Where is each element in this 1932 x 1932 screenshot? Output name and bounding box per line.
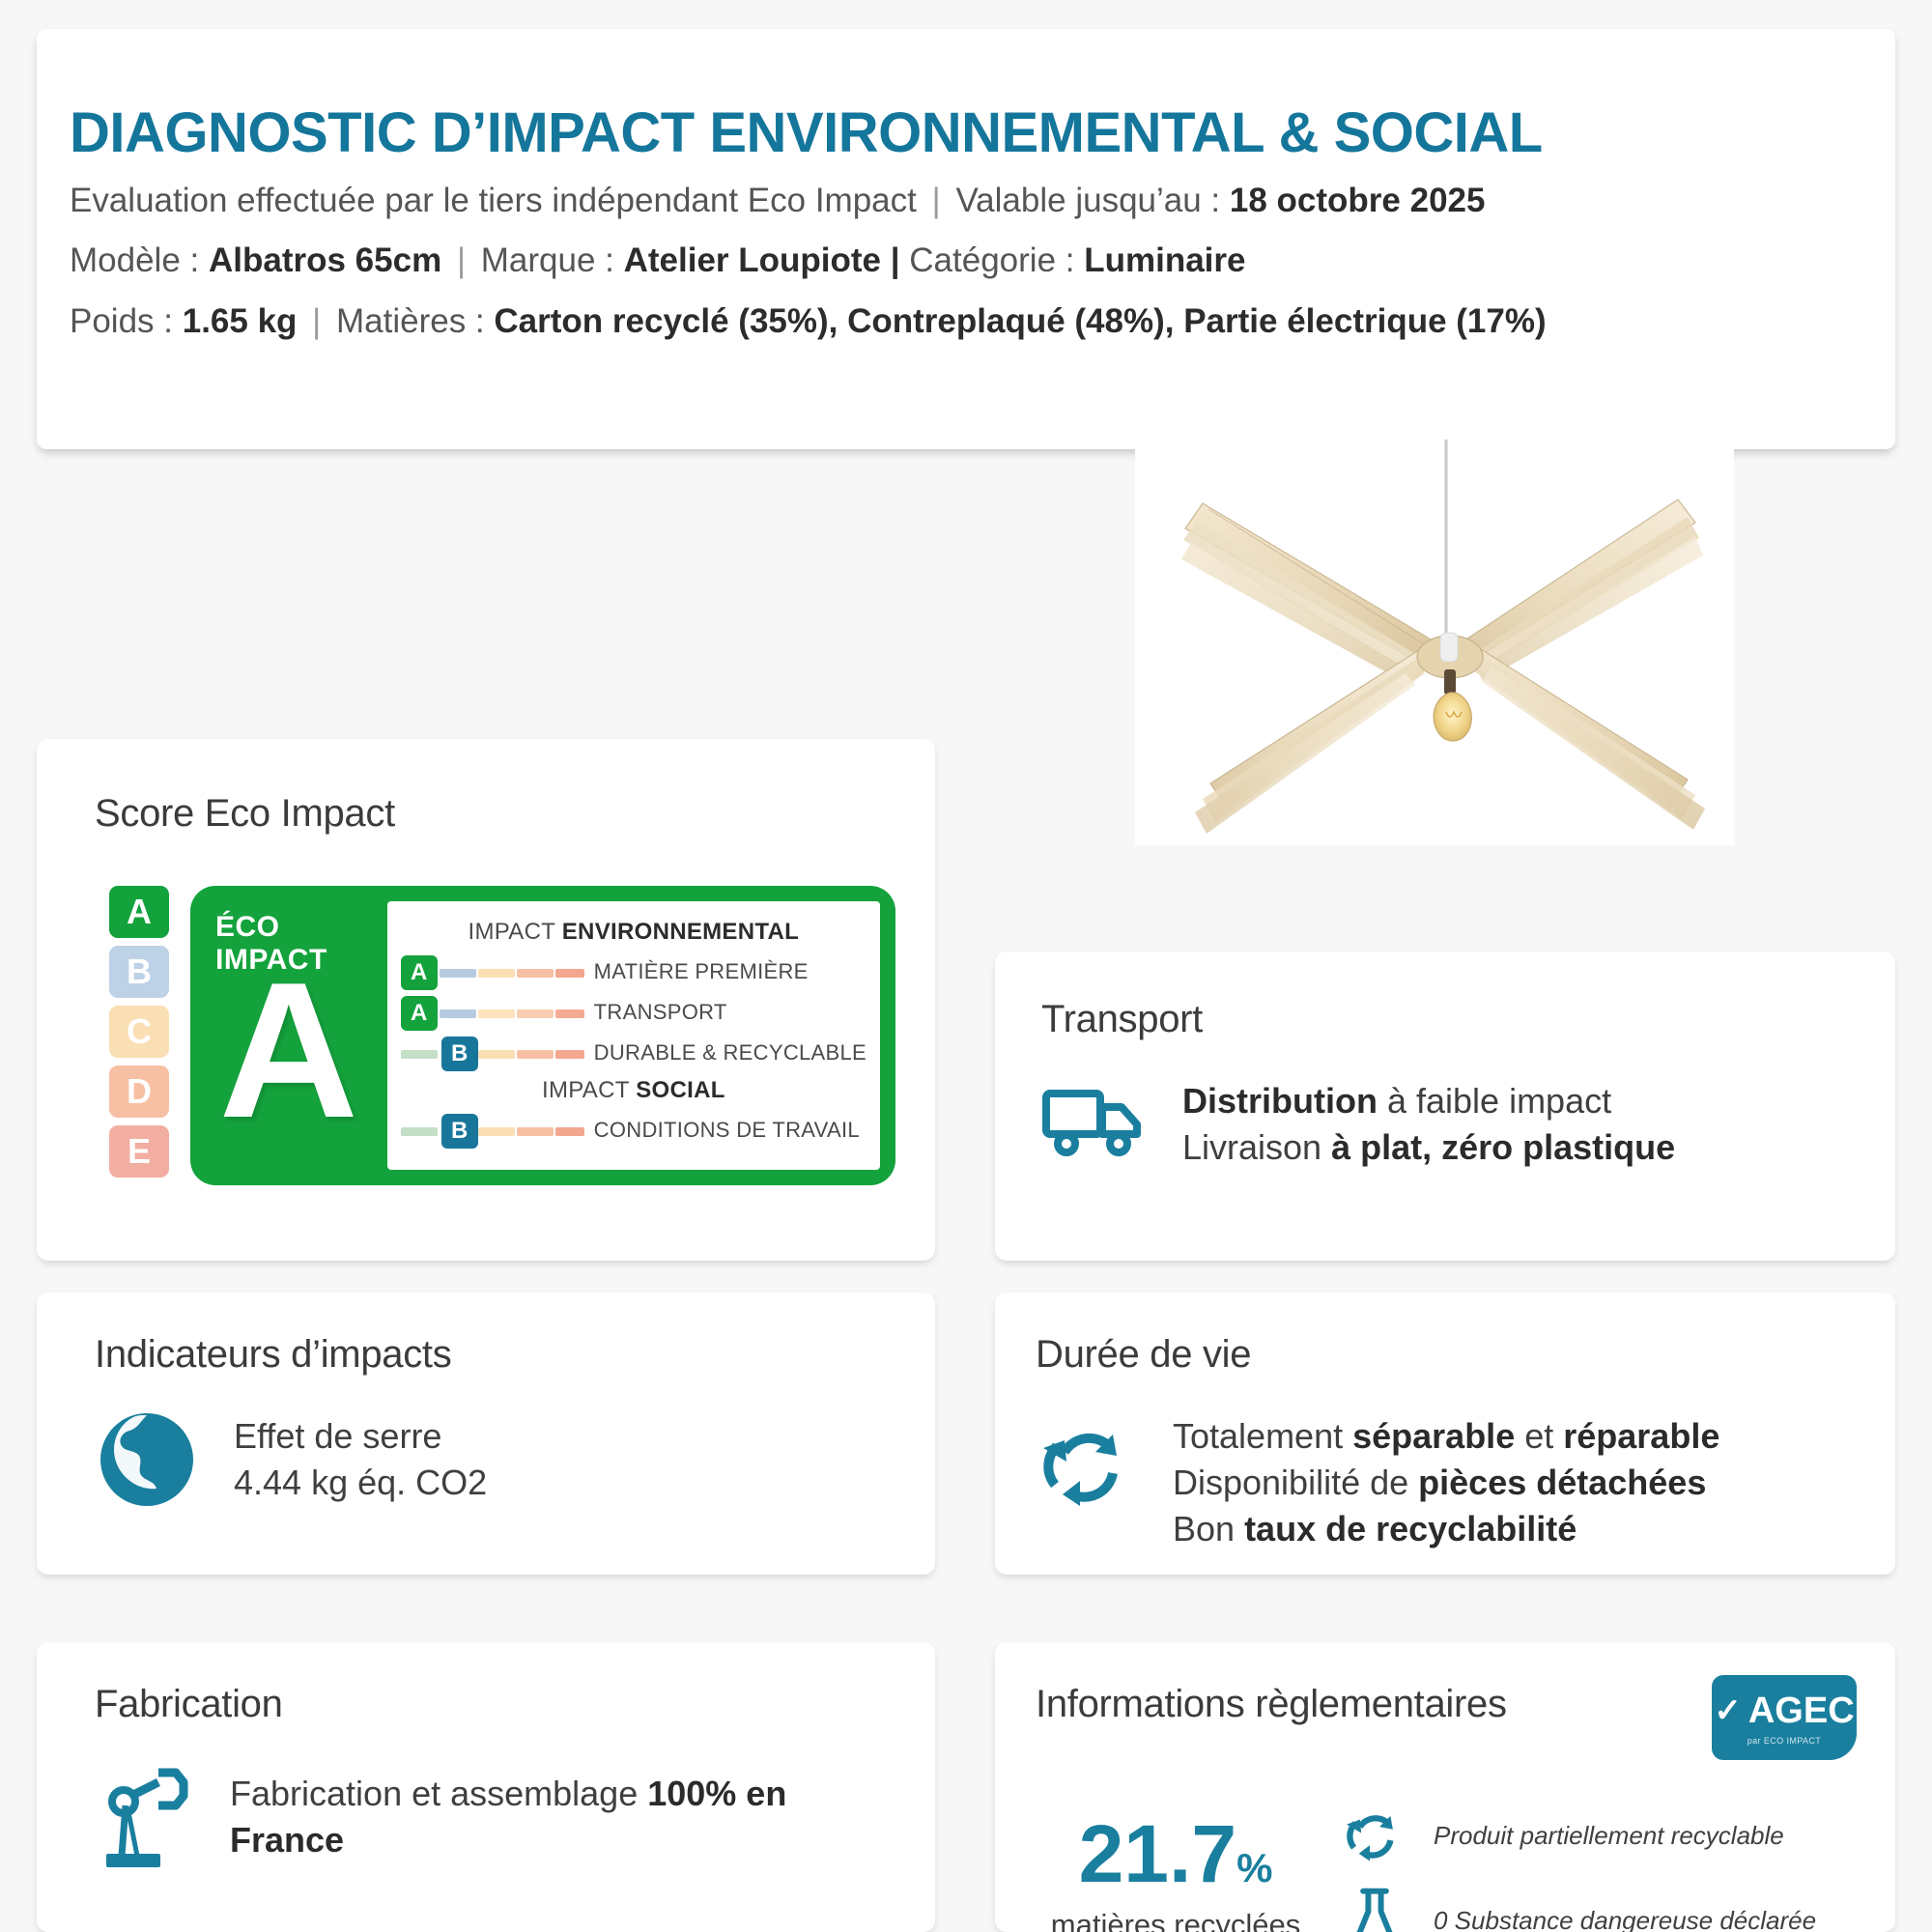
separator-3: |	[306, 302, 327, 340]
flask-icon	[1333, 1886, 1416, 1932]
social-heading: IMPACT SOCIAL	[401, 1077, 867, 1104]
lamp-socket	[1444, 669, 1456, 695]
transport-card-body: Distribution à faible impact Livraison à…	[1041, 1078, 1895, 1171]
eco-criteria-panel: IMPACT ENVIRONNEMENTAL A MATIÈRE PREMIÈR…	[387, 901, 880, 1170]
bar-segment	[517, 1009, 554, 1018]
criterion-durable-recyclable: B DURABLE & RECYCLABLE	[401, 1033, 867, 1073]
grade-scale: A B C D E	[109, 886, 169, 1185]
indicateurs-card-title: Indicateurs d’impacts	[95, 1333, 935, 1377]
agec-badge-name: AGEC	[1748, 1690, 1855, 1732]
reglementaire-item-substances: 0 Substance dangereuse déclarée	[1333, 1878, 1816, 1932]
model-line: Modèle : Albatros 65cm | Marque : Atelie…	[70, 239, 1862, 284]
environmental-heading-bold: ENVIRONNEMENTAL	[562, 919, 799, 945]
evaluation-text: Evaluation effectuée par le tiers indépe…	[70, 182, 917, 219]
reglementaires-header: Informations règlementaires ✓ AGEC par E…	[1036, 1683, 1895, 1768]
duree-card-body: Totalement séparable et réparable Dispon…	[1036, 1413, 1895, 1552]
bar-segment	[440, 969, 476, 978]
duree-line-1-bold2: réparable	[1563, 1416, 1719, 1456]
indicator-value: 4.44 kg éq. CO2	[234, 1460, 487, 1506]
model-value: Albatros 65cm	[209, 241, 441, 279]
recycled-percent-number: 21.7	[1079, 1808, 1237, 1899]
bar-segment	[440, 1009, 476, 1018]
recycled-materials-stat: 21.7% matières recyclées	[1036, 1813, 1316, 1932]
separator-2: |	[451, 241, 471, 279]
fabrication-card-title: Fabrication	[95, 1683, 935, 1726]
model-label: Modèle :	[70, 241, 199, 279]
brand-value: Atelier Loupiote |	[624, 241, 900, 279]
category-label: Catégorie :	[909, 241, 1074, 279]
reglementaires-items: Produit partiellement recyclable 0 Subst…	[1333, 1793, 1816, 1932]
environmental-heading: IMPACT ENVIRONNEMENTAL	[401, 919, 867, 946]
bar-segment	[478, 1009, 515, 1018]
criterion-track: A	[401, 991, 584, 1034]
product-image	[1135, 440, 1734, 845]
eco-label-panel: ÉCO IMPACT A IMPACT ENVIRONNEMENTAL	[190, 886, 895, 1185]
bar-segment	[478, 1050, 515, 1059]
duree-line-3-bold: taux de recyclabilité	[1244, 1509, 1577, 1548]
lamp-arm-upper-left	[1181, 503, 1442, 683]
reglementaire-item-text: Produit partiellement recyclable	[1434, 1821, 1784, 1851]
bar-segment	[517, 969, 554, 978]
duree-line-3: Bon taux de recyclabilité	[1173, 1506, 1719, 1552]
transport-card-lines: Distribution à faible impact Livraison à…	[1182, 1078, 1675, 1171]
bar-segment	[555, 1050, 584, 1059]
reglementaires-body: 21.7% matières recyclées	[1036, 1793, 1895, 1932]
recycled-percent-label: matières recyclées	[1036, 1908, 1316, 1932]
transport-line-1-bold: Distribution	[1182, 1081, 1378, 1121]
grade-chip-a: A	[109, 886, 169, 938]
weight-value: 1.65 kg	[183, 302, 298, 340]
bar-segment	[517, 1050, 554, 1059]
agec-badge-main: ✓ AGEC	[1714, 1690, 1854, 1732]
reglementaire-item-text: 0 Substance dangereuse déclarée	[1434, 1906, 1816, 1932]
criterion-grade-badge: B	[441, 1037, 478, 1071]
duree-line-2-lead: Disponibilité de	[1173, 1463, 1418, 1502]
informations-reglementaires-card: Informations règlementaires ✓ AGEC par E…	[995, 1642, 1895, 1932]
duree-line-3-lead: Bon	[1173, 1509, 1244, 1548]
indicateurs-impacts-card: Indicateurs d’impacts Effet de serre 4.4…	[37, 1293, 935, 1575]
duree-line-1-mid: et	[1515, 1416, 1563, 1456]
bar-segment	[555, 1009, 584, 1018]
pendant-lamp-illustration	[1135, 440, 1734, 845]
grade-chip-e: E	[109, 1125, 169, 1178]
evaluation-line: Evaluation effectuée par le tiers indépe…	[70, 179, 1862, 224]
materials-value: Carton recyclé (35%), Contreplaqué (48%)…	[494, 302, 1546, 340]
criterion-label: MATIÈRE PREMIÈRE	[594, 959, 809, 984]
reglementaire-item-recyclable: Produit partiellement recyclable	[1333, 1793, 1816, 1878]
truck-icon	[1041, 1078, 1150, 1163]
duree-line-1-lead: Totalement	[1173, 1416, 1352, 1456]
duree-line-1: Totalement séparable et réparable	[1173, 1413, 1719, 1460]
globe-icon	[93, 1406, 201, 1514]
bar-segment	[517, 1127, 554, 1136]
grade-chip-b: B	[109, 946, 169, 998]
recycled-percent-value: 21.7%	[1036, 1813, 1316, 1894]
fabrication-card: Fabrication Fabrication et assemblage 10…	[37, 1642, 935, 1932]
duree-card-title: Durée de vie	[1036, 1333, 1895, 1377]
eco-label-left: ÉCO IMPACT A	[190, 886, 387, 1185]
transport-line-2-bold: à plat, zéro plastique	[1331, 1127, 1675, 1167]
eco-impact-datasheet: DIAGNOSTIC D’IMPACT ENVIRONNEMENTAL & SO…	[0, 0, 1932, 1932]
recycle-icon	[1333, 1803, 1416, 1868]
validity-value: 18 octobre 2025	[1230, 182, 1486, 219]
lamp-bulb	[1434, 693, 1471, 741]
duree-line-1-bold: séparable	[1352, 1416, 1515, 1456]
duree-de-vie-card: Durée de vie Totalement séparable et rép…	[995, 1293, 1895, 1575]
indicateurs-card-lines: Effet de serre 4.44 kg éq. CO2	[234, 1413, 487, 1506]
bar-segment	[401, 1050, 438, 1059]
score-card-title: Score Eco Impact	[95, 792, 935, 836]
grade-chip-c: C	[109, 1006, 169, 1058]
robot-arm-icon	[93, 1763, 197, 1871]
document-header: DIAGNOSTIC D’IMPACT ENVIRONNEMENTAL & SO…	[37, 29, 1895, 449]
criterion-track: B	[401, 1032, 584, 1074]
bar-segment	[555, 1127, 584, 1136]
grade-chip-d: D	[109, 1065, 169, 1118]
duree-line-2: Disponibilité de pièces détachées	[1173, 1460, 1719, 1506]
criterion-track: B	[401, 1109, 584, 1151]
lamp-arm-lower-left	[1195, 646, 1436, 834]
check-icon: ✓	[1714, 1691, 1742, 1730]
transport-card-title: Transport	[1041, 998, 1895, 1041]
criterion-label: CONDITIONS DE TRAVAIL	[594, 1118, 860, 1143]
transport-line-1-rest: à faible impact	[1378, 1081, 1611, 1121]
social-heading-bold: SOCIAL	[636, 1077, 724, 1103]
materials-line: Poids : 1.65 kg | Matières : Carton recy…	[70, 299, 1862, 345]
fabrication-card-body: Fabrication et assemblage 100% en France	[93, 1763, 935, 1871]
transport-line-2-lead: Livraison	[1182, 1127, 1331, 1167]
bar-segment	[478, 1127, 515, 1136]
lamp-arm-upper-right	[1456, 499, 1703, 681]
bar-segment	[401, 1127, 438, 1136]
fabrication-line: Fabrication et assemblage 100% en France	[230, 1771, 848, 1863]
indicator-name: Effet de serre	[234, 1413, 487, 1460]
fabrication-line-lead: Fabrication et assemblage	[230, 1774, 647, 1813]
criterion-grade-badge: B	[441, 1114, 478, 1149]
page-title: DIAGNOSTIC D’IMPACT ENVIRONNEMENTAL & SO…	[70, 104, 1862, 163]
overall-grade: A	[219, 954, 358, 1148]
criterion-conditions-de-travail: B CONDITIONS DE TRAVAIL	[401, 1110, 867, 1151]
percent-unit: %	[1236, 1845, 1272, 1890]
agec-badge: ✓ AGEC par ECO IMPACT	[1712, 1675, 1857, 1760]
criterion-label: DURABLE & RECYCLABLE	[594, 1040, 867, 1065]
brand-label: Marque :	[481, 241, 614, 279]
validity-label: Valable jusqu’au :	[955, 182, 1220, 219]
lamp-socket-housing	[1440, 633, 1458, 662]
category-value: Luminaire	[1084, 241, 1245, 279]
duree-card-lines: Totalement séparable et réparable Dispon…	[1173, 1413, 1719, 1552]
criterion-matiere-premiere: A MATIÈRE PREMIÈRE	[401, 952, 867, 992]
criterion-grade-badge: A	[401, 996, 438, 1031]
separator-1: |	[926, 182, 947, 219]
social-heading-light: IMPACT	[542, 1077, 629, 1103]
agec-badge-subtitle: par ECO IMPACT	[1747, 1736, 1821, 1746]
weight-label: Poids :	[70, 302, 173, 340]
transport-line-1: Distribution à faible impact	[1182, 1078, 1675, 1124]
criterion-track: A	[401, 951, 584, 993]
lamp-arm-lower-right	[1460, 644, 1705, 830]
bar-segment	[478, 969, 515, 978]
transport-line-2: Livraison à plat, zéro plastique	[1182, 1124, 1675, 1171]
fabrication-card-lines: Fabrication et assemblage 100% en France	[230, 1771, 848, 1863]
recycle-icon	[1036, 1413, 1140, 1518]
environmental-heading-light: IMPACT	[469, 919, 555, 945]
criterion-label: TRANSPORT	[594, 1000, 727, 1025]
score-eco-impact-card: Score Eco Impact A B C D E ÉCO IMPACT A …	[37, 739, 935, 1261]
bar-segment	[555, 969, 584, 978]
reglementaires-card-title: Informations règlementaires	[1036, 1683, 1507, 1726]
eco-impact-label: A B C D E ÉCO IMPACT A IMPACT ENVIRONNEM…	[109, 886, 935, 1185]
criterion-transport: A TRANSPORT	[401, 992, 867, 1033]
materials-label: Matières :	[336, 302, 485, 340]
duree-line-2-bold: pièces détachées	[1418, 1463, 1706, 1502]
transport-card: Transport Distribution à faible impact L…	[995, 952, 1895, 1261]
criterion-grade-badge: A	[401, 955, 438, 990]
indicateurs-card-body: Effet de serre 4.44 kg éq. CO2	[93, 1406, 935, 1514]
